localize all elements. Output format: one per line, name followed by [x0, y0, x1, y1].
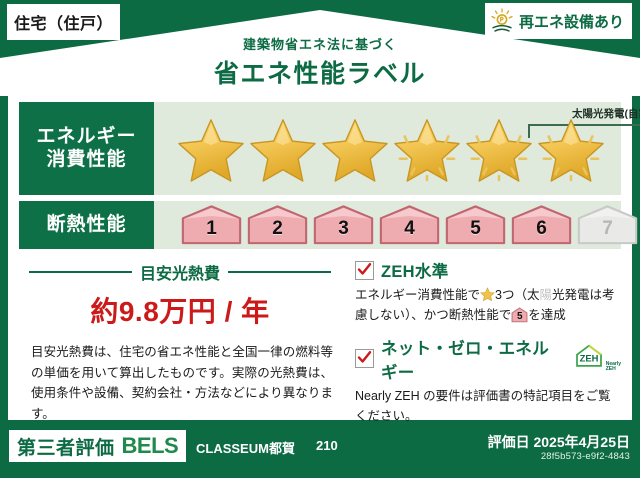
net-zero-energy-body: Nearly ZEH の要件は評価書の特記項目をご覧ください。: [355, 386, 621, 427]
utility-cost-value: 約9.8万円 / 年: [19, 290, 341, 330]
title-subtitle: 建築物省エネ法に基づく: [0, 34, 640, 53]
heading-rule-right: [228, 271, 331, 273]
zeh-badge-subtext: Nearly ZEH: [606, 362, 621, 374]
zeh-body-faded: 陽: [539, 288, 552, 302]
insulation-level-filled: 3: [312, 204, 375, 246]
energy-performance-label: エネルギー 消費性能: [19, 102, 154, 195]
label-footer: 第三者評価 BELS CLASSEUM都賀 210 評価日 2025年4月25日…: [0, 424, 640, 478]
insulation-level-number: 1: [206, 218, 217, 240]
utility-cost-panel: 目安光熱費 約9.8万円 / 年 目安光熱費は、住宅の省エネ性能と全国一律の燃料…: [19, 256, 341, 412]
star-solar: [392, 116, 462, 182]
bels-badge: 第三者評価 BELS: [9, 430, 186, 462]
star-solar: [464, 116, 534, 182]
inline-insulation-level-number: 5: [511, 309, 528, 325]
building-name: CLASSEUM都賀: [196, 438, 295, 457]
svg-text:ZEH: ZEH: [579, 353, 598, 364]
insulation-level-filled: 1: [180, 204, 243, 246]
title-block: 建築物省エネ法に基づく 省エネ性能ラベル: [0, 34, 640, 90]
energy-label-line1: エネルギー: [36, 126, 136, 148]
net-zero-energy-title: ネット・ゼロ・エネルギー: [381, 335, 563, 383]
insulation-performance-label: 断熱性能: [19, 201, 154, 249]
checkbox-checked-icon-2: [355, 349, 374, 368]
evaluation-date: 評価日 2025年4月25日: [488, 432, 630, 452]
energy-performance-value: 太陽光発電(自家消費)分: [154, 102, 621, 195]
insulation-level-number: 6: [536, 218, 547, 240]
zeh-body-prefix: エネルギー消費性能で: [355, 288, 480, 302]
insulation-label-text: 断熱性能: [46, 214, 126, 236]
checkbox-checked-icon: [355, 261, 374, 280]
insulation-level-number: 5: [470, 218, 481, 240]
inline-insulation-level-icon: 5: [511, 307, 528, 323]
insulation-performance-row: 断熱性能 1 2 3 4: [19, 201, 621, 249]
insulation-level-number: 3: [338, 218, 349, 240]
insulation-performance-value: 1 2 3 4 5 6: [154, 201, 621, 249]
label-body-card: エネルギー 消費性能 太陽光発電(自家消費)分: [8, 96, 632, 420]
energy-label-root: 住宅（住戸） 再エネ設備あり: [0, 0, 640, 478]
utility-cost-note: 目安光熱費は、住宅の省エネ性能と全国一律の燃料等の単価を用いて算出したものです。…: [31, 342, 333, 425]
zeh-logo-badge: ZEH Nearly ZEH: [574, 344, 621, 373]
insulation-level-empty: 7: [576, 204, 639, 246]
zeh-standard-body: エネルギー消費性能で 3つ（太陽光発電は考慮しない）、かつ断熱性能で 5 を達成: [355, 285, 621, 326]
star-base: [320, 116, 390, 182]
insulation-level-filled: 6: [510, 204, 573, 246]
heading-rule-left: [29, 271, 132, 273]
bels-en-label: BELS: [122, 433, 179, 459]
zeh-standard-row: ZEH水準: [355, 258, 621, 282]
bels-jp-label: 第三者評価: [17, 433, 115, 460]
zeh-badge-sub-line2: ZEH: [606, 367, 621, 373]
unit-number: 210: [316, 438, 338, 453]
energy-label-line2: 消費性能: [46, 149, 126, 171]
insulation-level-filled: 4: [378, 204, 441, 246]
lower-section: 目安光熱費 約9.8万円 / 年 目安光熱費は、住宅の省エネ性能と全国一律の燃料…: [19, 256, 621, 412]
insulation-level-number: 2: [272, 218, 283, 240]
renewable-energy-label: 再エネ設備あり: [519, 11, 624, 32]
zeh-body-star-count: 3つ（太: [495, 288, 539, 302]
zeh-panel: ZEH水準 エネルギー消費性能で 3つ（太陽光発電は考慮しない）、かつ断熱性能で…: [341, 256, 621, 412]
insulation-level-number: 4: [404, 218, 415, 240]
utility-cost-heading-text: 目安光熱費: [140, 260, 220, 284]
utility-cost-heading: 目安光熱費: [29, 260, 331, 284]
star-solar: [536, 116, 606, 182]
insulation-level-scale: 1 2 3 4 5 6: [180, 204, 639, 246]
label-header: 住宅（住戸） 再エネ設備あり: [0, 0, 640, 96]
energy-performance-row: エネルギー 消費性能 太陽光発電(自家消費)分: [19, 102, 621, 195]
zeh-body-suffix: を達成: [528, 308, 566, 322]
insulation-level-filled: 5: [444, 204, 507, 246]
house-type-label: 住宅（住戸）: [14, 10, 113, 34]
zeh-standard-title: ZEH水準: [381, 258, 449, 282]
insulation-level-filled: 2: [246, 204, 309, 246]
star-rating: [176, 116, 606, 182]
inline-star-icon: [480, 287, 495, 302]
star-base: [176, 116, 246, 182]
title-main: 省エネ性能ラベル: [0, 54, 640, 90]
star-base: [248, 116, 318, 182]
sun-rays-icon: [489, 8, 515, 34]
insulation-level-number: 7: [602, 218, 613, 240]
net-zero-energy-row: ネット・ゼロ・エネルギー ZEH Nearly ZEH: [355, 335, 621, 383]
zeh-house-icon: ZEH: [574, 344, 604, 373]
evaluation-id: 28f5b573-e9f2-4843: [541, 451, 630, 462]
